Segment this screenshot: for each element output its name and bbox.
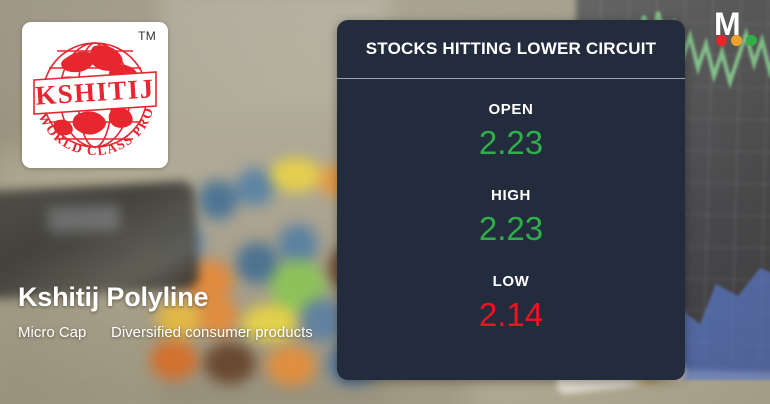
company-meta: Micro Cap Diversified consumer products <box>18 322 328 344</box>
stat-high-label: HIGH <box>337 186 685 206</box>
stats-card: STOCKS HITTING LOWER CIRCUIT OPEN 2.23 H… <box>337 20 685 380</box>
watermark-dot-red <box>716 35 727 46</box>
stat-low: LOW 2.14 <box>337 272 685 336</box>
market-cap-label: Micro Cap <box>18 322 111 344</box>
moneycontrol-watermark: M <box>710 8 762 52</box>
stat-open-label: OPEN <box>337 100 685 120</box>
card-body: OPEN 2.23 HIGH 2.23 LOW 2.14 <box>337 79 685 336</box>
stat-high: HIGH 2.23 <box>337 186 685 250</box>
sector-label: Diversified consumer products <box>111 322 313 344</box>
watermark-dot-orange <box>731 35 742 46</box>
company-info: Kshitij Polyline Micro Cap Diversified c… <box>18 281 328 344</box>
watermark-dots <box>716 35 757 46</box>
trademark-symbol: TM <box>138 29 156 43</box>
moneycontrol-m-icon: M <box>710 8 762 38</box>
card-title: STOCKS HITTING LOWER CIRCUIT <box>337 20 685 79</box>
stat-high-value: 2.23 <box>337 208 685 250</box>
stat-open-value: 2.23 <box>337 122 685 164</box>
stat-low-value: 2.14 <box>337 294 685 336</box>
watermark-letter: M <box>714 8 741 38</box>
stat-low-label: LOW <box>337 272 685 292</box>
kshitij-globe-logo-icon: KSHITIJ WORLD CLASS PRODUCTS <box>22 22 168 168</box>
watermark-dot-green <box>746 35 757 46</box>
company-logo: KSHITIJ WORLD CLASS PRODUCTS TM <box>22 22 168 168</box>
company-name: Kshitij Polyline <box>18 281 328 313</box>
stock-summary-card-image: KSHITIJ WORLD CLASS PRODUCTS TM Kshitij … <box>0 0 770 404</box>
stat-open: OPEN 2.23 <box>337 100 685 164</box>
